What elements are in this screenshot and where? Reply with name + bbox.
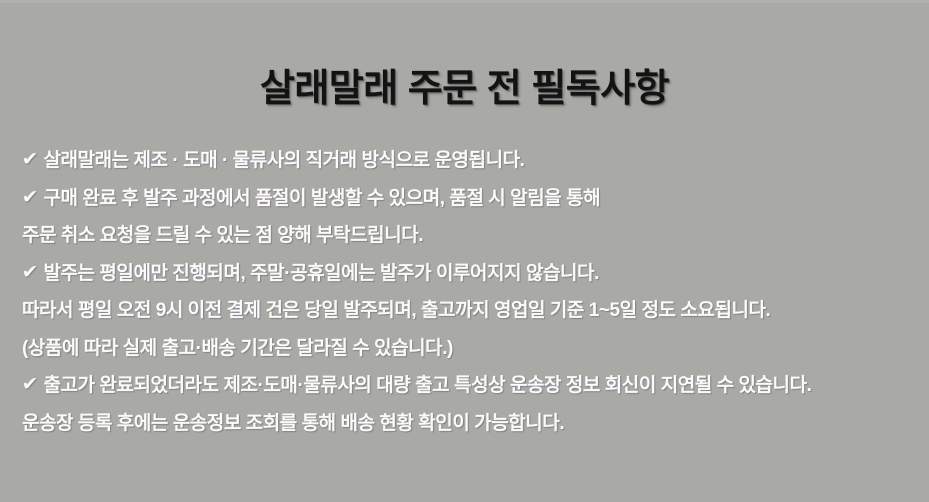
check-icon: ✔	[22, 141, 38, 179]
notice-text: 주문 취소 요청을 드릴 수 있는 점 양해 부탁드립니다.	[22, 225, 423, 246]
notice-text: 이 발생할 수 있으며, 품절 시 알림을 통해	[289, 188, 600, 209]
check-icon: ✔	[22, 366, 38, 404]
notice-text: 구매 완료 후	[43, 188, 143, 209]
highlighted-text: 평일 오전 9시 이전 결제	[78, 300, 261, 321]
highlighted-text: 제조 · 도매 · 물류사의 직거래 방식	[133, 150, 395, 171]
highlighted-text: 발주 과정에서 품절	[143, 188, 289, 209]
notice-line: ✔발주는 평일에만 진행되며, 주말·공휴일에는 발주가 이루어지지 않습니다.	[22, 255, 922, 293]
notice-line: 주문 취소 요청을 드릴 수 있는 점 양해 부탁드립니다.	[22, 217, 922, 255]
notice-text: 건은 당일 발주되며, 출고까지 영업일 기준 1~5일 정도 소요됩니다.	[261, 300, 771, 321]
notice-text: 운송장 등록 후에는 운송정보 조회를 통해 배송 현황 확인이 가능합니다.	[22, 413, 564, 434]
notice-list: ✔살래말래는 제조 · 도매 · 물류사의 직거래 방식으로 운영됩니다.✔구매…	[22, 142, 922, 442]
notice-text: 될 수 있습니다.	[695, 375, 812, 396]
check-icon: ✔	[22, 254, 38, 292]
check-icon: ✔	[22, 179, 38, 217]
notice-text: 발주는	[43, 263, 99, 284]
notice-line: ✔살래말래는 제조 · 도매 · 물류사의 직거래 방식으로 운영됩니다.	[22, 142, 922, 180]
notice-line: ✔출고가 완료되었더라도 제조·도매·물류사의 대량 출고 특성상 운송장 정보…	[22, 367, 922, 405]
notice-text: 살래말래는	[43, 150, 133, 171]
page-title: 살래말래 주문 전 필독사항	[0, 57, 929, 112]
notice-text: (상품에 따라 실제 출고·배송 기간은 달라질 수 있습니다.)	[22, 338, 453, 359]
notice-line: 따라서 평일 오전 9시 이전 결제 건은 당일 발주되며, 출고까지 영업일 …	[22, 292, 922, 330]
notice-text: 되며, 주말·공휴일에는 발주가 이루어지지 않습니다.	[206, 263, 598, 284]
notice-banner: 살래말래 주문 전 필독사항 ✔살래말래는 제조 · 도매 · 물류사의 직거래…	[0, 0, 929, 502]
notice-text: 출고가 완료되었더라도 제조·도매·물류사의 대량 출고 특성상	[43, 375, 509, 396]
notice-text: 따라서	[22, 300, 78, 321]
notice-line: (상품에 따라 실제 출고·배송 기간은 달라질 수 있습니다.)	[22, 330, 922, 368]
highlighted-text: 운송장 정보 회신이 지연	[510, 375, 695, 396]
notice-line: ✔구매 완료 후 발주 과정에서 품절이 발생할 수 있으며, 품절 시 알림을…	[22, 180, 922, 218]
notice-line: 운송장 등록 후에는 운송정보 조회를 통해 배송 현황 확인이 가능합니다.	[22, 405, 922, 443]
highlighted-text: 평일에만 진행	[99, 263, 206, 284]
notice-text: 으로 운영됩니다.	[396, 150, 525, 171]
